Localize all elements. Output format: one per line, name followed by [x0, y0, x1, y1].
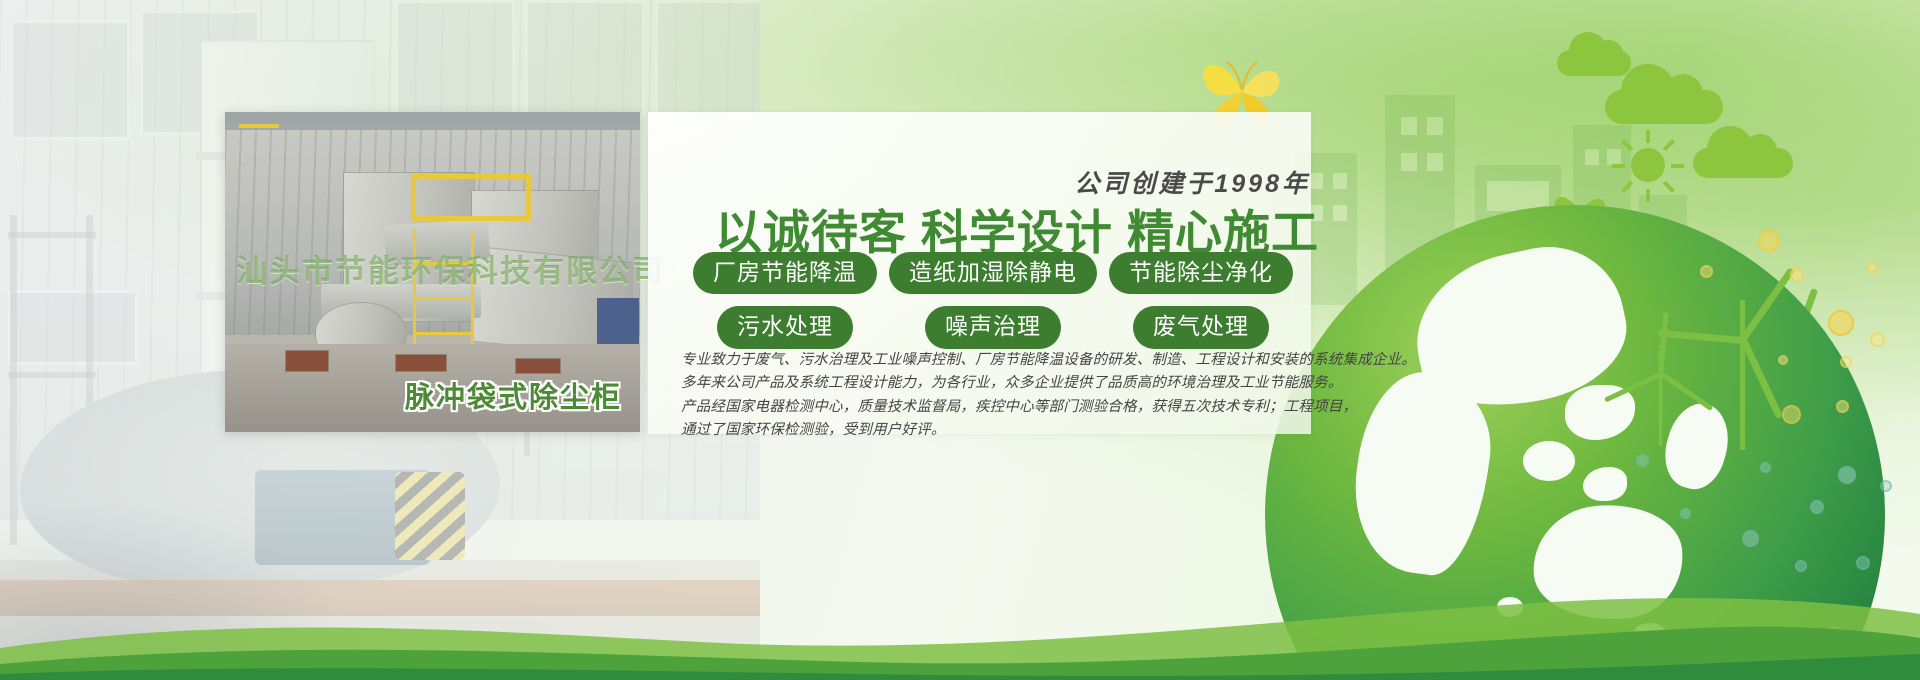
cloud-icon [1605, 90, 1723, 124]
bokeh-dot [1880, 480, 1892, 492]
service-pill-exhaust-gas[interactable]: 废气处理 [1133, 306, 1269, 348]
photo-caption: 脉冲袋式除尘柜 [405, 374, 622, 416]
bokeh-dot [1840, 356, 1852, 368]
cloud-icon [1693, 148, 1793, 178]
bokeh-dot [1790, 268, 1804, 282]
bokeh-dot [1700, 265, 1713, 278]
bokeh-dot [1760, 462, 1771, 473]
bokeh-dot [1836, 400, 1849, 413]
service-pill-dust-purify[interactable]: 节能除尘净化 [1109, 252, 1293, 294]
company-description: 专业致力于废气、污水治理及工业噪声控制、厂房节能降温设备的研发、制造、工程设计和… [681, 349, 1307, 443]
bokeh-dot [1778, 355, 1788, 365]
service-pill-sewage[interactable]: 污水处理 [717, 306, 853, 348]
description-line: 通过了国家环保检测验，受到用户好评。 [681, 419, 1307, 442]
cloud-icon [1557, 50, 1631, 76]
bokeh-dot [1867, 262, 1878, 273]
hill-decoration [0, 530, 1920, 680]
promo-banner: 脉冲袋式除尘柜 汕头市节能环保科技有限公司 公司创建于1998年 以诚待客 科学… [0, 0, 1920, 680]
description-line: 产品经国家电器检测中心，质量技术监督局，疾控中心等部门测验合格，获得五次技术专利… [681, 396, 1307, 419]
description-line: 多年来公司产品及系统工程设计能力，为各行业，众多企业提供了品质高的环境治理及工业… [681, 372, 1307, 395]
bokeh-dot [1758, 230, 1780, 252]
bokeh-dot [1636, 454, 1649, 467]
bokeh-dot [1870, 332, 1885, 347]
bokeh-dot [1838, 466, 1856, 484]
content-panel: 公司创建于1998年 以诚待客 科学设计 精心施工 厂房节能降温 造纸加湿除静电… [648, 112, 1311, 434]
photo-watermark: 汕头市节能环保科技有限公司 [236, 246, 665, 291]
bokeh-dot [1810, 500, 1824, 514]
service-pill-paper-humidify[interactable]: 造纸加湿除静电 [889, 252, 1097, 294]
bokeh-dot [1782, 405, 1801, 424]
sun-icon [1631, 148, 1665, 182]
bokeh-dot [1828, 310, 1854, 336]
service-pill-noise[interactable]: 噪声治理 [925, 306, 1061, 348]
service-pill-row: 厂房节能降温 造纸加湿除静电 节能除尘净化 [688, 252, 1300, 294]
service-pill-factory-cooling[interactable]: 厂房节能降温 [693, 252, 877, 294]
description-line: 专业致力于废气、污水治理及工业噪声控制、厂房节能降温设备的研发、制造、工程设计和… [681, 349, 1307, 372]
service-pill-group: 厂房节能降温 造纸加湿除静电 节能除尘净化 污水处理 噪声治理 废气处理 [688, 252, 1300, 361]
service-pill-row: 污水处理 噪声治理 废气处理 [688, 306, 1300, 348]
bokeh-dot [1680, 508, 1691, 519]
